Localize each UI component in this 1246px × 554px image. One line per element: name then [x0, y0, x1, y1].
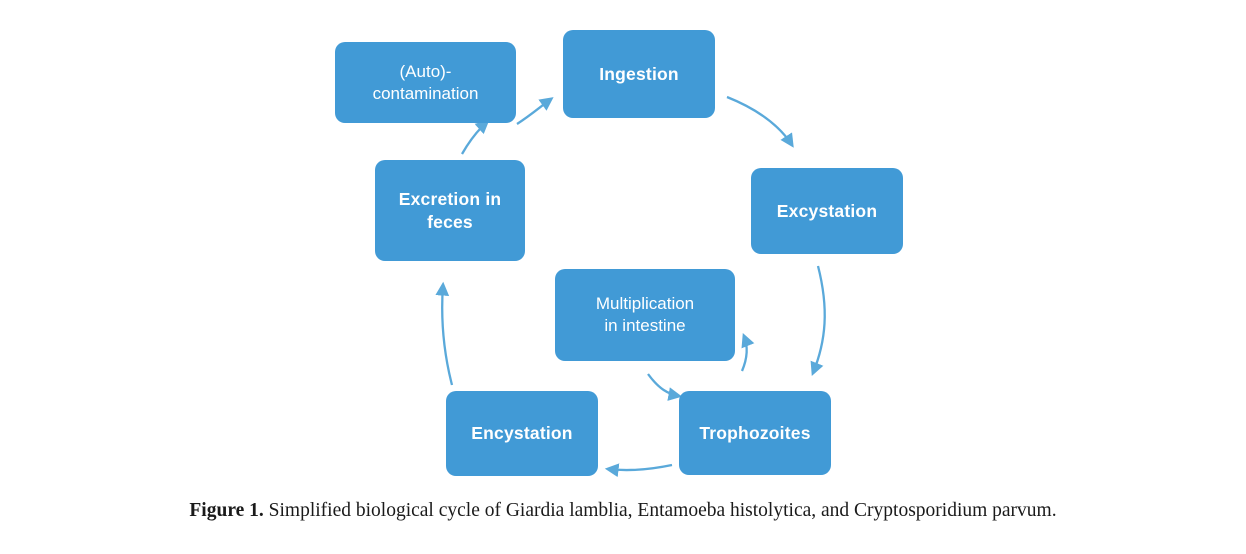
node-ingestion[interactable]: Ingestion: [563, 30, 715, 118]
node-auto-contamination[interactable]: (Auto)- contamination: [335, 42, 516, 123]
arrow-autocontamination-to-ingestion: [517, 99, 551, 124]
node-auto-contamination-line1: (Auto)-: [373, 61, 479, 83]
node-ingestion-label: Ingestion: [599, 63, 679, 85]
figure-caption: Figure 1. Simplified biological cycle of…: [0, 500, 1246, 522]
arrow-ingestion-to-excystation: [727, 97, 792, 145]
node-auto-contamination-line2: contamination: [373, 83, 479, 105]
node-excretion-in-feces[interactable]: Excretion in feces: [375, 160, 525, 261]
node-excretion-line1: Excretion in: [399, 188, 502, 210]
arrow-excretion-to-autocontamination: [462, 122, 487, 154]
figure-caption-label: Figure 1.: [189, 500, 263, 521]
arrow-excystation-to-trophozoites: [813, 266, 825, 373]
arrow-encystation-to-excretion: [442, 285, 452, 385]
figure-container: (Auto)- contamination Ingestion Excystat…: [0, 0, 1246, 554]
node-multiplication-in-intestine[interactable]: Multiplication in intestine: [555, 269, 735, 361]
node-multiplication-line2: in intestine: [596, 315, 694, 337]
node-trophozoites-label: Trophozoites: [699, 422, 810, 444]
node-multiplication-line1: Multiplication: [596, 293, 694, 315]
arrow-trophozoites-to-multiplication: [742, 336, 747, 371]
node-excretion-line2: feces: [399, 211, 502, 233]
node-encystation-label: Encystation: [471, 422, 572, 444]
figure-caption-text: Simplified biological cycle of Giardia l…: [269, 500, 1057, 521]
node-excystation-label: Excystation: [777, 200, 877, 222]
arrow-trophozoites-to-encystation: [608, 465, 672, 470]
arrow-multiplication-to-trophozoites: [648, 374, 679, 396]
node-trophozoites[interactable]: Trophozoites: [679, 391, 831, 475]
cycle-diagram: (Auto)- contamination Ingestion Excystat…: [0, 0, 1246, 492]
node-encystation[interactable]: Encystation: [446, 391, 598, 476]
node-excystation[interactable]: Excystation: [751, 168, 903, 254]
